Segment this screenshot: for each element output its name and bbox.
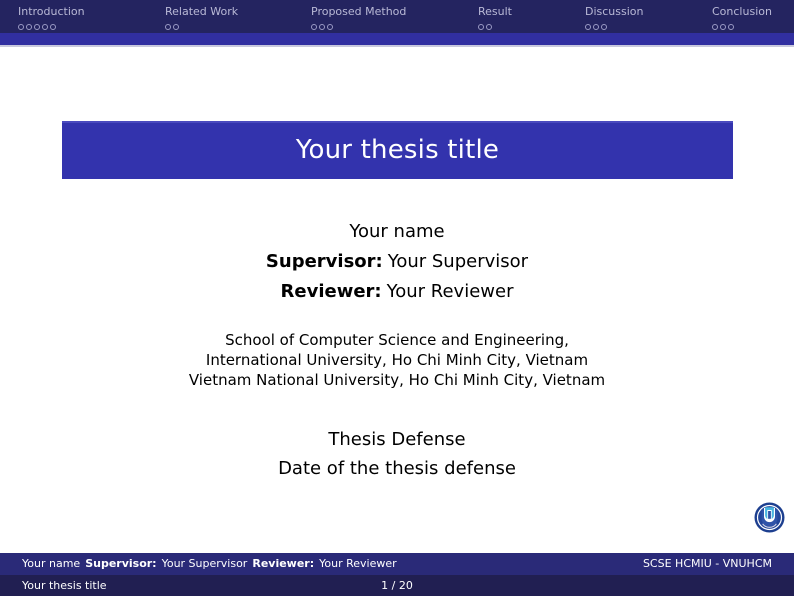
nav-slide-dot-icon[interactable] xyxy=(593,24,599,30)
footer-reviewer-label: Reviewer: xyxy=(252,557,314,570)
institute-block: School of Computer Science and Engineeri… xyxy=(0,330,794,390)
footer-top-bar: Your nameSupervisor:Your SupervisorRevie… xyxy=(0,553,794,575)
nav-section-label: Conclusion xyxy=(712,6,772,18)
footer-bottom-bar: Your thesis title 1 / 20 xyxy=(0,575,794,596)
nav-section-result[interactable]: Result xyxy=(478,6,512,30)
title-box: Your thesis title xyxy=(62,121,733,179)
nav-slide-dot-icon[interactable] xyxy=(601,24,607,30)
supervisor-name: Your Supervisor xyxy=(388,251,528,272)
event-date: Date of the thesis defense xyxy=(0,454,794,483)
nav-section-label: Related Work xyxy=(165,6,238,18)
institute-line-3: Vietnam National University, Ho Chi Minh… xyxy=(0,370,794,390)
navigation-rule xyxy=(0,45,794,47)
nav-section-label: Discussion xyxy=(585,6,644,18)
footer-institute: SCSE HCMIU - VNUHCM xyxy=(643,557,772,571)
footer-reviewer-name: Your Reviewer xyxy=(319,557,397,570)
footer-supervisor-label: Supervisor: xyxy=(85,557,156,570)
institute-line-1: School of Computer Science and Engineeri… xyxy=(0,330,794,350)
nav-slide-dot-icon[interactable] xyxy=(173,24,179,30)
nav-slide-dot-icon[interactable] xyxy=(34,24,40,30)
author-block: Your name Supervisor:Your Supervisor Rev… xyxy=(0,217,794,307)
university-seal-icon xyxy=(753,501,786,534)
nav-section-slide-dots xyxy=(478,21,512,30)
reviewer-label: Reviewer: xyxy=(281,281,382,302)
nav-slide-dot-icon[interactable] xyxy=(42,24,48,30)
nav-section-conclusion[interactable]: Conclusion xyxy=(712,6,772,30)
beamer-slide: IntroductionRelated WorkProposed MethodR… xyxy=(0,0,794,596)
nav-section-label: Result xyxy=(478,6,512,18)
nav-slide-dot-icon[interactable] xyxy=(327,24,333,30)
nav-slide-dot-icon[interactable] xyxy=(319,24,325,30)
nav-section-slide-dots xyxy=(585,21,644,30)
nav-slide-dot-icon[interactable] xyxy=(728,24,734,30)
author-name: Your name xyxy=(0,217,794,247)
institute-line-2: International University, Ho Chi Minh Ci… xyxy=(0,350,794,370)
footer-page-number: 1 / 20 xyxy=(0,579,794,593)
nav-section-discussion[interactable]: Discussion xyxy=(585,6,644,30)
footer-supervisor-name: Your Supervisor xyxy=(162,557,248,570)
nav-slide-dot-icon[interactable] xyxy=(486,24,492,30)
nav-slide-dot-icon[interactable] xyxy=(720,24,726,30)
nav-section-introduction[interactable]: Introduction xyxy=(18,6,85,30)
event-block: Thesis Defense Date of the thesis defens… xyxy=(0,425,794,483)
page-title: Your thesis title xyxy=(296,135,499,165)
nav-section-slide-dots xyxy=(18,21,85,30)
navigation-sections: IntroductionRelated WorkProposed MethodR… xyxy=(0,0,794,33)
navigation-bar: IntroductionRelated WorkProposed MethodR… xyxy=(0,0,794,33)
title-box-highlight xyxy=(62,121,733,123)
nav-slide-dot-icon[interactable] xyxy=(712,24,718,30)
nav-slide-dot-icon[interactable] xyxy=(50,24,56,30)
nav-section-related-work[interactable]: Related Work xyxy=(165,6,238,30)
reviewer-name: Your Reviewer xyxy=(387,281,514,302)
footer-author-info: Your nameSupervisor:Your SupervisorRevie… xyxy=(22,557,397,571)
event-occasion: Thesis Defense xyxy=(0,425,794,454)
nav-section-slide-dots xyxy=(311,21,406,30)
nav-section-slide-dots xyxy=(712,21,772,30)
navigation-subbar xyxy=(0,33,794,45)
nav-section-slide-dots xyxy=(165,21,238,30)
nav-slide-dot-icon[interactable] xyxy=(26,24,32,30)
supervisor-line: Supervisor:Your Supervisor xyxy=(0,247,794,277)
nav-slide-dot-icon[interactable] xyxy=(165,24,171,30)
nav-slide-dot-icon[interactable] xyxy=(585,24,591,30)
footer-author-name: Your name xyxy=(22,557,80,570)
nav-section-label: Introduction xyxy=(18,6,85,18)
nav-section-label: Proposed Method xyxy=(311,6,406,18)
nav-section-proposed-method[interactable]: Proposed Method xyxy=(311,6,406,30)
nav-slide-dot-icon[interactable] xyxy=(311,24,317,30)
reviewer-line: Reviewer:Your Reviewer xyxy=(0,277,794,307)
nav-slide-dot-icon[interactable] xyxy=(18,24,24,30)
nav-slide-dot-icon[interactable] xyxy=(478,24,484,30)
supervisor-label: Supervisor: xyxy=(266,251,383,272)
